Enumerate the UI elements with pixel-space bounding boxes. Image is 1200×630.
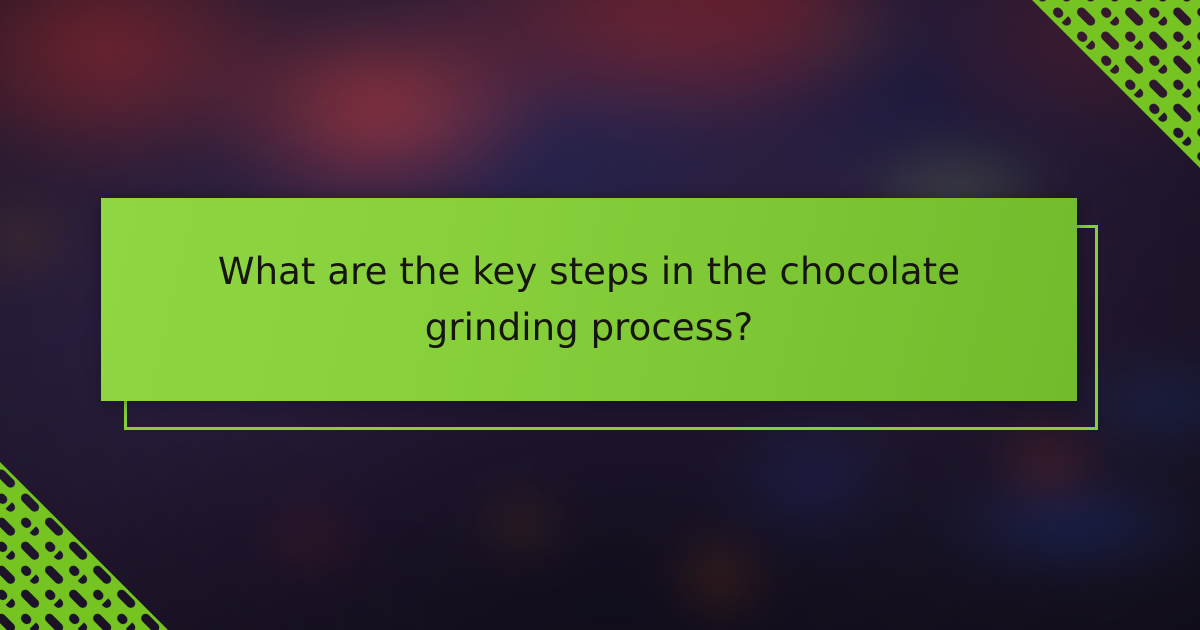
question-text: What are the key steps in the chocolate … xyxy=(101,244,1077,356)
question-banner: What are the key steps in the chocolate … xyxy=(0,0,1200,630)
question-card: What are the key steps in the chocolate … xyxy=(101,198,1077,401)
